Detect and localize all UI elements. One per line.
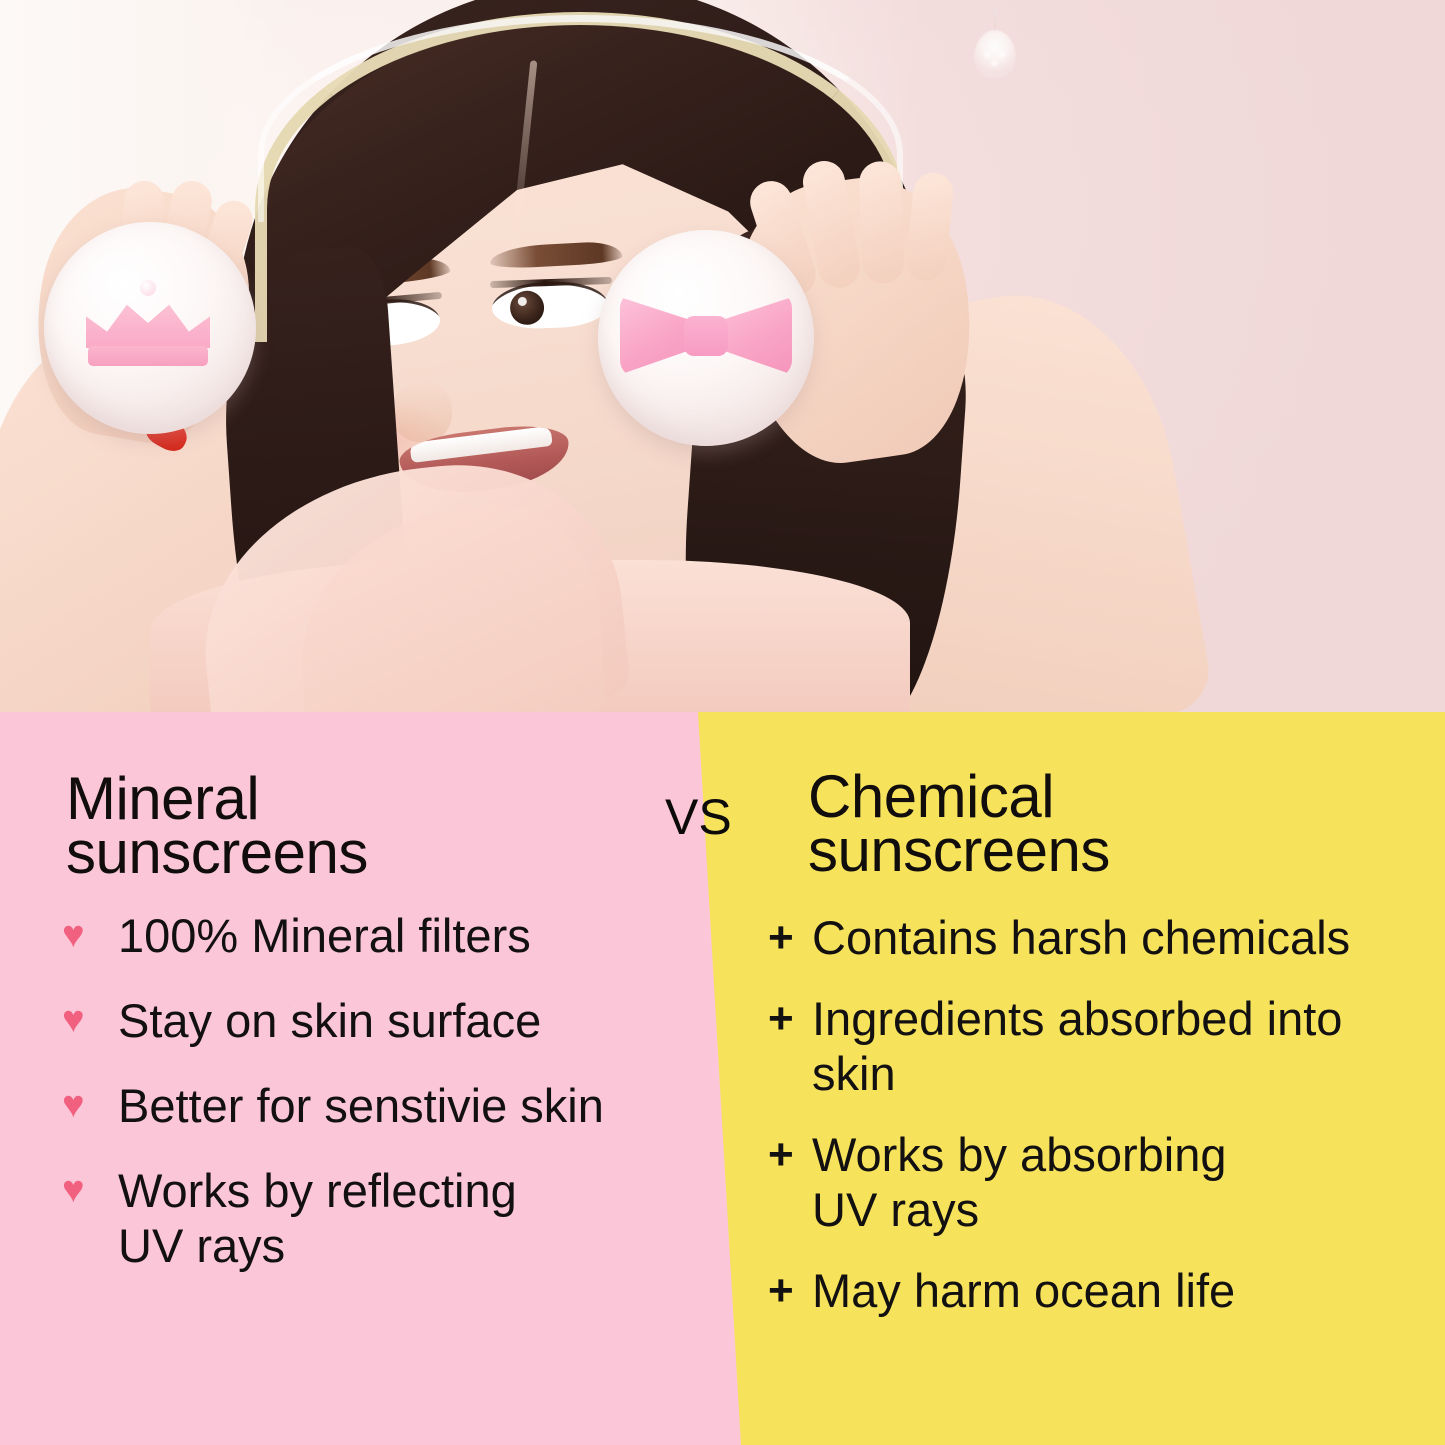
compact-left [44,222,256,434]
chemical-heading: Chemical sunscreens [808,770,1110,878]
list-item-label: Works by reflecting UV rays [118,1163,702,1273]
list-item-label: Stay on skin surface [118,993,702,1048]
finger [904,171,955,283]
list-item: ♥ Better for senstivie skin [62,1078,702,1133]
sunscreen-comparison-infographic: Mineral sunscreens ♥ 100% Mineral filter… [0,0,1445,1445]
heart-icon: ♥ [62,1163,118,1218]
plus-icon: + [768,1127,812,1182]
heart-icon: ♥ [62,993,118,1048]
list-item-label: Works by absorbing UV rays [812,1127,1428,1237]
finger [859,161,905,284]
comparison-panels: Mineral sunscreens ♥ 100% Mineral filter… [0,712,1445,1445]
list-item-label: Ingredients absorbed into skin [812,991,1428,1101]
heart-icon: ♥ [62,1078,118,1133]
list-item-label: Contains harsh chemicals [812,910,1428,965]
hero-photo [0,0,1445,715]
crown-jewel [140,280,156,296]
list-item: + Contains harsh chemicals [768,910,1428,965]
list-item: + Works by absorbing UV rays [768,1127,1428,1237]
nose [392,380,452,442]
bow-wing-right [718,292,792,378]
bow-icon [620,292,792,378]
plus-icon: + [768,991,812,1046]
list-item-label: 100% Mineral filters [118,908,702,963]
chemical-bullet-list: + Contains harsh chemicals + Ingredients… [768,910,1428,1344]
list-item-label: May harm ocean life [812,1263,1428,1318]
crown-icon [80,280,216,372]
plus-icon: + [768,910,812,965]
heart-icon: ♥ [62,908,118,963]
girl-figure [0,0,1445,715]
list-item: + May harm ocean life [768,1263,1428,1318]
bow-wing-left [620,292,694,378]
mineral-heading: Mineral sunscreens [66,772,368,880]
bow-knot [684,316,728,356]
compact-right [598,230,814,446]
vs-label: VS [665,788,732,846]
list-item: ♥ 100% Mineral filters [62,908,702,963]
mineral-bullet-list: ♥ 100% Mineral filters ♥ Stay on skin su… [62,908,702,1303]
list-item: + Ingredients absorbed into skin [768,991,1428,1101]
list-item-label: Better for senstivie skin [118,1078,702,1133]
list-item: ♥ Works by reflecting UV rays [62,1163,702,1273]
plus-icon: + [768,1263,812,1318]
crown-band [88,346,208,366]
crown-body [86,300,210,348]
list-item: ♥ Stay on skin surface [62,993,702,1048]
